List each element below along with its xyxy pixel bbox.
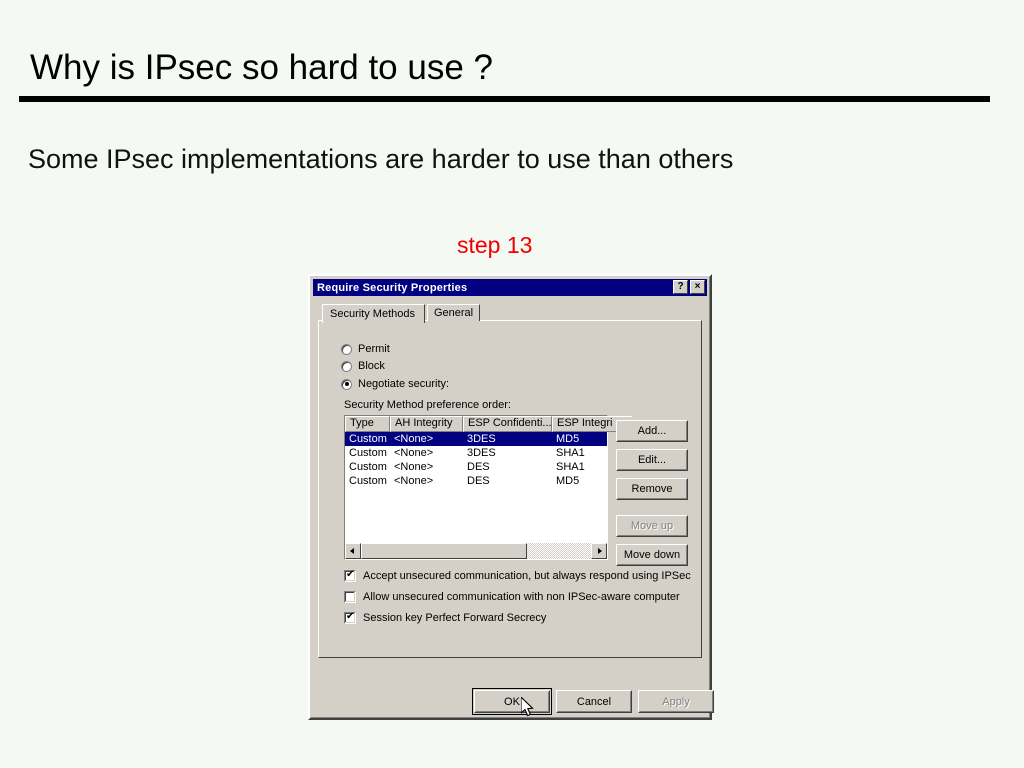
cell-esp-integ: SHA1: [552, 446, 607, 460]
mouse-cursor-icon: [521, 697, 537, 719]
radio-block[interactable]: Block: [341, 360, 385, 372]
remove-button[interactable]: Remove: [616, 478, 688, 500]
cell-type: Custom: [345, 474, 390, 488]
edit-button-label: Edit...: [617, 450, 687, 470]
tab-page-security-methods: Permit Block Negotiate security: Securit…: [318, 320, 702, 658]
list-caption: Security Method preference order:: [344, 399, 511, 411]
remove-button-label: Remove: [617, 479, 687, 499]
radio-permit-icon: [341, 344, 352, 355]
cell-esp-conf: 3DES: [463, 446, 552, 460]
add-button[interactable]: Add...: [616, 420, 688, 442]
scroll-right-arrow-icon[interactable]: [591, 543, 607, 559]
cancel-button-label: Cancel: [557, 691, 631, 712]
table-row[interactable]: Custom <None> 3DES MD5: [345, 432, 607, 446]
title-divider: [19, 96, 990, 102]
table-row[interactable]: Custom <None> 3DES SHA1: [345, 446, 607, 460]
cell-ah: <None>: [390, 460, 463, 474]
tab-strip: Security Methods General: [322, 304, 480, 322]
listview-header: Type AH Integrity ESP Confidenti... ESP …: [345, 416, 607, 432]
radio-negotiate-security-icon: [341, 379, 352, 390]
dialog-titlebar[interactable]: Require Security Properties ? ×: [313, 279, 707, 296]
page-title: Why is IPsec so hard to use ?: [30, 48, 493, 88]
help-icon[interactable]: ?: [673, 280, 688, 294]
ok-button-label: OK: [475, 691, 549, 712]
cell-type: Custom: [345, 432, 390, 446]
cell-ah: <None>: [390, 432, 463, 446]
checkbox-allow-unsecured[interactable]: Allow unsecured communication with non I…: [344, 591, 680, 603]
cell-type: Custom: [345, 460, 390, 474]
radio-block-icon: [341, 361, 352, 372]
listview-horizontal-scrollbar[interactable]: [345, 543, 607, 559]
checkbox-accept-unsecured[interactable]: Accept unsecured communication, but alwa…: [344, 570, 691, 582]
cell-type: Custom: [345, 446, 390, 460]
cell-esp-integ: MD5: [552, 474, 607, 488]
cell-esp-conf: 3DES: [463, 432, 552, 446]
dialog-title: Require Security Properties: [317, 282, 467, 294]
checkbox-allow-unsecured-label: Allow unsecured communication with non I…: [363, 591, 680, 603]
column-header-type[interactable]: Type: [345, 416, 390, 432]
scroll-left-arrow-icon[interactable]: [345, 543, 361, 559]
table-row[interactable]: Custom <None> DES MD5: [345, 474, 607, 488]
cell-esp-integ: SHA1: [552, 460, 607, 474]
tab-general[interactable]: General: [427, 304, 480, 321]
tab-security-methods[interactable]: Security Methods: [322, 304, 425, 323]
require-security-properties-dialog: Require Security Properties ? × Security…: [308, 274, 712, 720]
scrollbar-thumb[interactable]: [361, 543, 527, 559]
add-button-label: Add...: [617, 421, 687, 441]
checkbox-accept-unsecured-label: Accept unsecured communication, but alwa…: [363, 570, 691, 582]
move-up-button-label: Move up: [617, 516, 687, 536]
ok-button[interactable]: OK: [474, 690, 550, 713]
cell-ah: <None>: [390, 446, 463, 460]
edit-button[interactable]: Edit...: [616, 449, 688, 471]
checkbox-session-key-pfs[interactable]: Session key Perfect Forward Secrecy: [344, 612, 546, 624]
close-icon[interactable]: ×: [690, 280, 705, 294]
step-annotation: step 13: [457, 232, 532, 259]
cell-esp-integ: MD5: [552, 432, 607, 446]
radio-negotiate-security-label: Negotiate security:: [358, 378, 449, 390]
titlebar-button-group: ? ×: [673, 280, 705, 294]
move-down-button[interactable]: Move down: [616, 544, 688, 566]
security-method-listview[interactable]: Type AH Integrity ESP Confidenti... ESP …: [344, 415, 608, 560]
slide-subtitle: Some IPsec implementations are harder to…: [28, 144, 733, 175]
radio-permit-label: Permit: [358, 343, 390, 355]
cell-esp-conf: DES: [463, 474, 552, 488]
column-header-ah-integrity[interactable]: AH Integrity: [390, 416, 463, 432]
apply-button[interactable]: Apply: [638, 690, 714, 713]
cell-ah: <None>: [390, 474, 463, 488]
checkbox-accept-unsecured-icon: [344, 570, 356, 582]
apply-button-label: Apply: [639, 691, 713, 712]
cell-esp-conf: DES: [463, 460, 552, 474]
move-up-button[interactable]: Move up: [616, 515, 688, 537]
cancel-button[interactable]: Cancel: [556, 690, 632, 713]
listview-body: Custom <None> 3DES MD5 Custom <None> 3DE…: [345, 432, 607, 542]
column-header-esp-confidentiality[interactable]: ESP Confidenti...: [463, 416, 552, 432]
table-row[interactable]: Custom <None> DES SHA1: [345, 460, 607, 474]
scrollbar-track[interactable]: [361, 543, 591, 559]
checkbox-session-key-pfs-label: Session key Perfect Forward Secrecy: [363, 612, 546, 624]
radio-permit[interactable]: Permit: [341, 343, 390, 355]
move-down-button-label: Move down: [617, 545, 687, 565]
checkbox-session-key-pfs-icon: [344, 612, 356, 624]
checkbox-allow-unsecured-icon: [344, 591, 356, 603]
radio-block-label: Block: [358, 360, 385, 372]
radio-negotiate-security[interactable]: Negotiate security:: [341, 378, 449, 390]
